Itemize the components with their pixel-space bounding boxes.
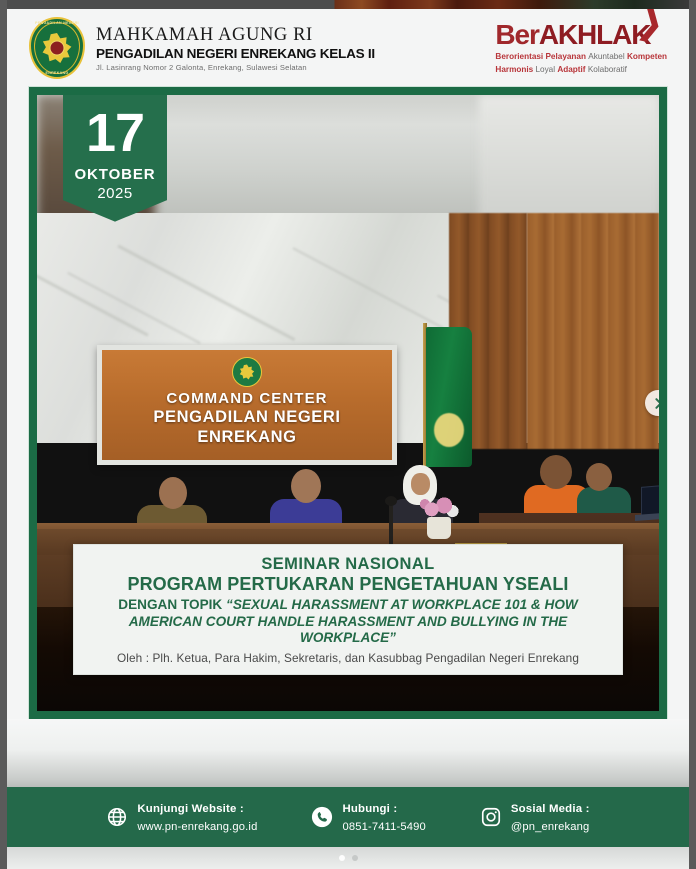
photo-laptop-screen [641,483,659,517]
photo-person-3-face [411,473,430,495]
photo-ceiling-vent [523,137,597,177]
tagline-word-kolaboratif: Kolaboratif [588,65,627,74]
carousel-dot-2[interactable] [352,855,358,861]
photo-person-4-head [540,455,572,489]
photo-command-center-sign: COMMAND CENTER PENGADILAN NEGERI ENREKAN… [97,345,397,465]
caption-topic-prefix: DENGAN TOPIK [118,597,226,612]
org-title: MAHKAMAH AGUNG RI [96,26,369,46]
footer-item-social[interactable]: Sosial Media : @pn_enrekang [480,799,590,835]
berakhlak-tagline-line1: Berorientasi Pelayanan Akuntabel Kompete… [495,51,667,62]
carousel-dot-1[interactable] [339,855,345,861]
sign-seal-icon [232,357,262,387]
tagline-word-harmonis: Harmonis [495,65,535,74]
photo-person-2-head [291,469,321,503]
post-spacer [7,719,689,787]
carousel-next-button[interactable] [645,390,667,416]
contact-footer: Kunjungi Website : www.pn-enrekang.go.id… [7,787,689,847]
footer-website-value: www.pn-enrekang.go.id [137,821,257,833]
photo-green-flag [426,327,472,467]
brand-block: PENGADILAN NEGERI ENREKANG MAHKAMAH AGUN… [29,17,369,79]
org-subtitle: PENGADILAN NEGERI ENREKANG KELAS II [96,46,375,61]
berakhlak-wordmark: BerAKHLAK ❯ [495,21,650,48]
caption-topic: DENGAN TOPIK “SEXUAL HARASSMENT AT WORKP… [84,597,612,647]
app-chrome-right-rail [689,0,696,869]
app-chrome-left-rail [0,0,7,869]
berakhlak-swoosh-icon: ❯ [637,9,662,38]
tagline-word-kompeten: Kompeten [627,52,667,61]
photo-wood-panel-outer [527,213,659,449]
photo-person-5-head [586,463,612,491]
sign-line-2: PENGADILAN NEGERI ENREKANG [102,408,392,448]
seal-bottom-text: ENREKANG [29,71,85,75]
seal-top-text: PENGADILAN NEGERI [29,21,85,25]
berakhlak-tagline-line2: Harmonis Loyal Adaptif Kolaboratif [495,64,667,75]
phone-icon [311,806,333,828]
footer-social-value: @pn_enrekang [511,821,589,833]
caption-byline: Oleh : Plh. Ketua, Para Hakim, Sekretari… [84,651,612,665]
photo-person-1-head [159,477,187,509]
photo-vase [427,517,451,539]
tagline-word-berorientasi: Berorientasi Pelayanan [495,52,588,61]
date-year: 2025 [63,185,167,202]
chevron-right-icon [653,398,664,409]
globe-icon [106,806,128,828]
date-month: OKTOBER [63,166,167,183]
footer-website-title: Kunjungi Website : [137,803,244,815]
tagline-word-loyal: Loyal [535,65,557,74]
poster-caption-panel: SEMINAR NASIONAL PROGRAM PERTUKARAN PENG… [73,544,623,675]
footer-item-website[interactable]: Kunjungi Website : www.pn-enrekang.go.id [106,799,257,835]
footer-phone-title: Hubungi : [342,803,397,815]
footer-phone-value: 0851-7411-5490 [342,821,425,833]
footer-item-phone[interactable]: Hubungi : 0851-7411-5490 [311,799,425,835]
tagline-word-adaptif: Adaptif [557,65,587,74]
poster-card[interactable]: COMMAND CENTER PENGADILAN NEGERI ENREKAN… [29,87,667,719]
berakhlak-logo: BerAKHLAK ❯ Berorientasi Pelayanan Akunt… [495,21,671,76]
org-address: Jl. Lasinrang Nomor 2 Galonta, Enrekang,… [96,63,369,72]
berakhlak-akhlak: AKHLAK [539,19,651,50]
brand-text: MAHKAMAH AGUNG RI PENGADILAN NEGERI ENRE… [96,24,369,72]
court-seal-icon: PENGADILAN NEGERI ENREKANG [29,17,85,79]
footer-social-title: Sosial Media : [511,803,590,815]
date-badge: 17 OKTOBER 2025 [63,87,167,222]
berakhlak-ber: Ber [495,19,538,50]
tagline-word-akuntabel: Akuntabel [588,52,627,61]
photo-microphone [389,503,393,547]
site-header: PENGADILAN NEGERI ENREKANG MAHKAMAH AGUN… [7,9,689,87]
previous-post-sliver[interactable] [7,0,689,9]
caption-title-2: PROGRAM PERTUKARAN PENGETAHUAN YSEALI [84,574,612,596]
sign-line-1: COMMAND CENTER [102,390,392,408]
instagram-icon [480,806,502,828]
footer-phone-text: Hubungi : 0851-7411-5490 [342,799,425,835]
carousel-pager [7,847,689,869]
footer-website-text: Kunjungi Website : www.pn-enrekang.go.id [137,799,257,835]
date-day: 17 [63,109,167,159]
caption-title-1: SEMINAR NASIONAL [84,554,612,574]
footer-social-text: Sosial Media : @pn_enrekang [511,799,590,835]
post-page: PENGADILAN NEGERI ENREKANG MAHKAMAH AGUN… [7,9,689,869]
